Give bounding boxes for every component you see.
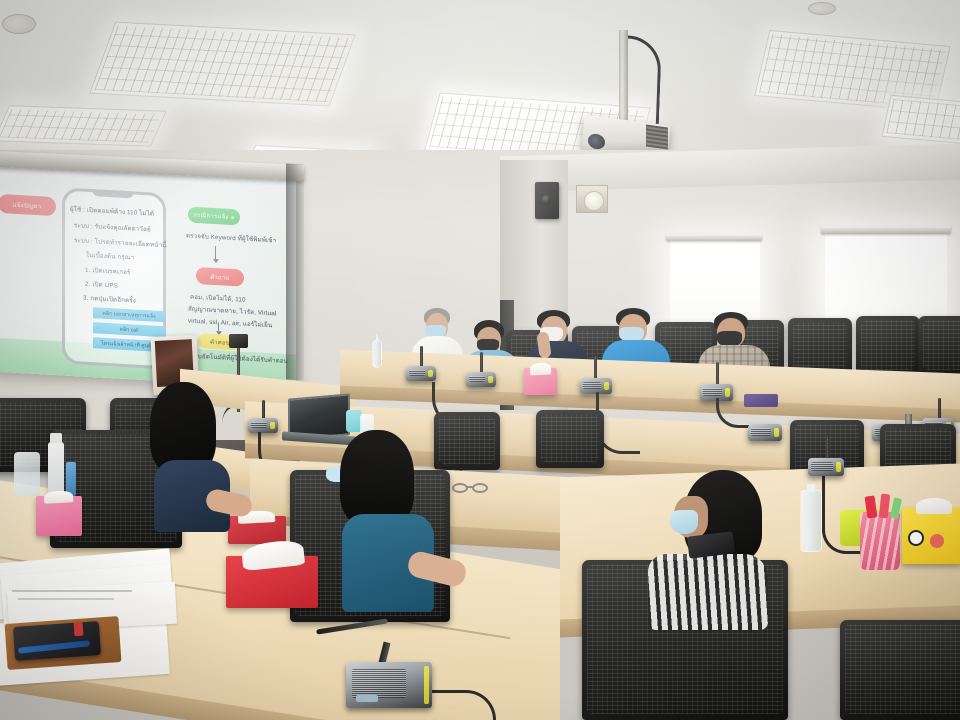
phone-case-accent xyxy=(74,622,84,637)
eyeglasses xyxy=(452,482,492,494)
slide-pill-green: กรณีการแจ้ง ๑ xyxy=(188,207,240,226)
microphone-neck xyxy=(262,400,265,420)
microphone-neck xyxy=(480,352,483,374)
mic-indicator xyxy=(356,695,378,702)
ceiling-light-5 xyxy=(0,105,167,147)
ceiling-diffuser-icon xyxy=(808,2,836,15)
document-text-line xyxy=(12,590,132,592)
water-bottle xyxy=(14,452,40,496)
slide-arrow-2 xyxy=(218,322,219,334)
wall-speaker xyxy=(535,182,559,219)
slide-pill-red: คำถาม xyxy=(196,267,244,287)
tissue-box-red-2 xyxy=(228,516,286,544)
window-blind-bar-2 xyxy=(821,226,951,234)
ceiling-diffuser-icon xyxy=(2,14,36,34)
conference-microphone xyxy=(248,418,278,433)
tissue-box-red xyxy=(226,556,318,608)
slide-right-line-4: virtual, ssl, Air, air, แอร์ไม่เย็น xyxy=(188,316,272,331)
sanitizer-pump-bottle xyxy=(48,442,64,496)
conference-microphone xyxy=(748,424,782,441)
ceiling-light-1 xyxy=(89,22,356,107)
empty-chair xyxy=(918,316,960,376)
document-text-line xyxy=(18,598,114,600)
projector-vent xyxy=(646,124,668,149)
microphone-neck xyxy=(594,356,597,380)
projection-screen-edge xyxy=(286,163,304,380)
tissue-box-panda xyxy=(902,508,960,564)
window-blind-bar-1 xyxy=(666,234,762,241)
slide-right-line-2: คอม, เปิดไม่ได้, 110 xyxy=(190,292,246,305)
office-chair xyxy=(840,620,960,720)
slide-right-line-1: ตรวจจับ Keyword ที่ผู้ใช้พิมพ์เข้า xyxy=(186,230,276,245)
microphone-neck xyxy=(716,362,719,386)
slide-phone-line-6: 2. เปิด UPS xyxy=(85,279,118,291)
camera-head xyxy=(229,334,248,348)
wall-clock xyxy=(576,185,608,213)
projection-screen: แจ้งปัญหา ผู้ใช้ : เปิดคอมพ์ค้าง 110 ไม่… xyxy=(0,159,296,388)
microphone-neck xyxy=(938,398,941,420)
empty-chair xyxy=(434,412,500,470)
conference-microphone-foreground xyxy=(346,662,432,708)
tissue-box-pink-2 xyxy=(36,496,82,536)
water-bottle xyxy=(372,340,382,368)
conference-microphone xyxy=(406,366,436,381)
panda-face-icon xyxy=(908,530,924,546)
tissue-sheet xyxy=(916,498,952,514)
torso-striped xyxy=(648,554,768,630)
empty-chair xyxy=(856,316,920,376)
face-mask xyxy=(670,510,698,534)
cup-with-straws xyxy=(860,512,900,570)
slide-arrow-1 xyxy=(215,246,216,262)
water-bottle-2 xyxy=(800,490,822,552)
tissue-box-pink xyxy=(524,368,557,395)
conference-room-photo: แจ้งปัญหา ผู้ใช้ : เปิดคอมพ์ค้าง 110 ไม่… xyxy=(0,0,960,720)
microphone-neck xyxy=(420,346,423,368)
conference-microphone xyxy=(808,458,844,476)
slide-pill-left: แจ้งปัญหา xyxy=(0,194,56,216)
hair-long xyxy=(340,430,414,526)
sticker-icon xyxy=(930,534,944,548)
empty-chair xyxy=(536,410,604,468)
